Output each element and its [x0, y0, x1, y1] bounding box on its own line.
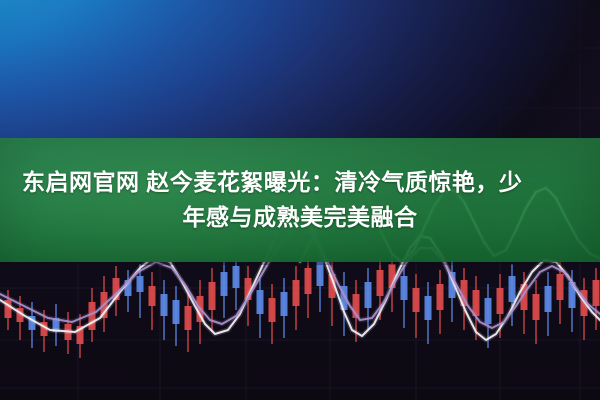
headline-block: 东启网官网 赵今麦花絮曝光：清冷气质惊艳，少 年感与成熟美完美融合	[0, 138, 600, 262]
candle-body	[221, 272, 228, 296]
candle-body	[401, 276, 408, 300]
candle-body	[557, 274, 564, 300]
candle-body	[413, 288, 420, 312]
candle-body	[293, 280, 300, 306]
candle-body	[233, 266, 240, 288]
candlestick-series	[5, 250, 600, 358]
candle-body	[209, 282, 216, 310]
screenshot-root: 东启网官网 赵今麦花絮曝光：清冷气质惊艳，少 年感与成熟美完美融合	[0, 0, 600, 400]
candle-body	[137, 276, 144, 292]
candle-body	[269, 298, 276, 322]
candle-body	[185, 306, 192, 330]
candle-body	[545, 286, 552, 312]
candle-body	[161, 294, 168, 316]
candle-body	[257, 290, 264, 314]
candle-body	[593, 280, 600, 306]
candle-body	[533, 294, 540, 320]
candle-body	[173, 300, 180, 324]
candle-body	[497, 288, 504, 314]
candle-body	[425, 296, 432, 320]
candle-body	[485, 298, 492, 324]
candle-body	[149, 286, 156, 306]
headline-line-2: 年感与成熟美完美融合	[183, 203, 418, 232]
candle-body	[305, 268, 312, 294]
candle-body	[281, 292, 288, 316]
headline-line-1: 东启网官网 赵今麦花絮曝光：清冷气质惊艳，少	[14, 168, 522, 197]
candle-body	[317, 262, 324, 286]
candle-body	[437, 284, 444, 310]
candle-body	[377, 270, 384, 296]
candle-body	[365, 282, 372, 308]
